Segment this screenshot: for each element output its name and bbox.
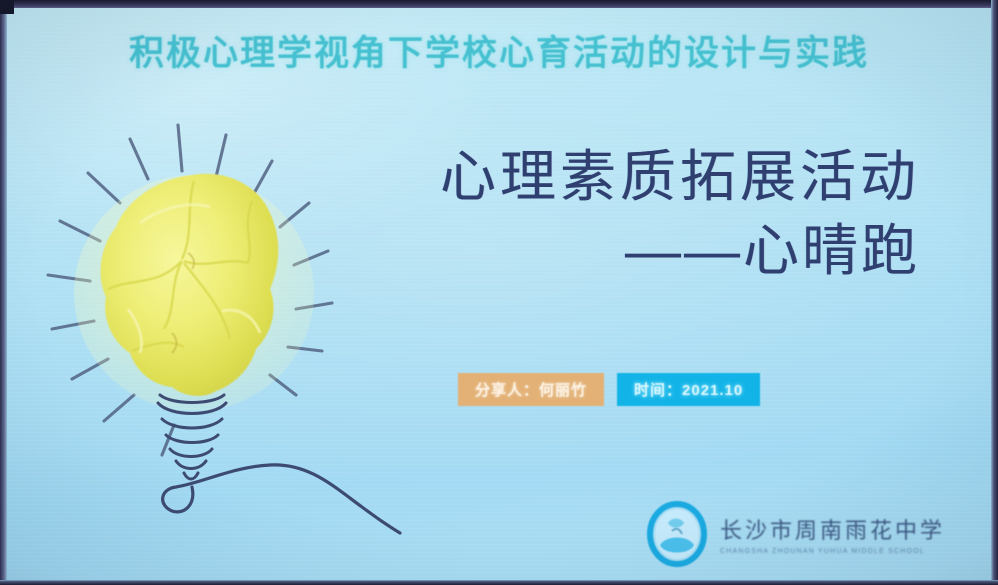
slide-header-title: 积极心理学视角下学校心育活动的设计与实践: [6, 36, 992, 71]
school-logo-text: 长沙市周南雨花中学 CHANGSHA ZHOUNAN YUHUA MIDDLE …: [720, 513, 945, 555]
school-crest-emblem-icon: [646, 501, 708, 567]
date-badge: 时间：2021.10: [617, 373, 760, 406]
slide-title-block: 心理素质拓展活动 ——心晴跑: [440, 147, 920, 282]
slide-surface: 积极心理学视角下学校心育活动的设计与实践: [6, 7, 992, 581]
crumpled-paper-lightbulb-illustration: [44, 103, 394, 563]
frame-edge-right: [991, 0, 998, 585]
school-logo: 长沙市周南雨花中学 CHANGSHA ZHOUNAN YUHUA MIDDLE …: [646, 501, 945, 567]
school-name-cn: 长沙市周南雨花中学: [720, 513, 945, 545]
school-name-en: CHANGSHA ZHOUNAN YUHUA MIDDLE SCHOOL: [720, 548, 945, 555]
slide-main-title: 心理素质拓展活动: [440, 147, 920, 207]
slide-meta-badges: 分享人：何丽竹 时间：2021.10: [458, 373, 760, 406]
presenter-badge: 分享人：何丽竹: [458, 373, 604, 406]
projected-slide-photo: 积极心理学视角下学校心育活动的设计与实践: [0, 0, 998, 585]
slide-subtitle: ——心晴跑: [440, 221, 920, 281]
